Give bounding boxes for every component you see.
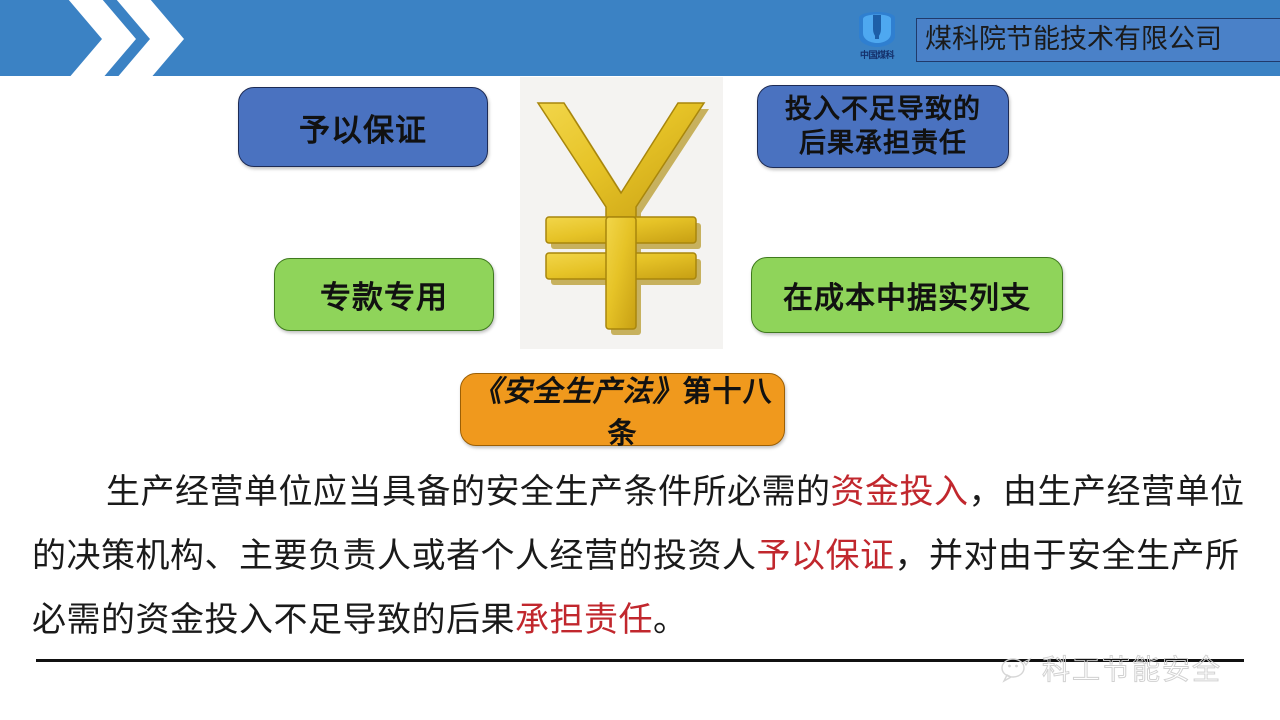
label-box-consequence-line1: 投入不足导致的 — [785, 93, 981, 127]
footer-watermark: 科工节能安全 — [1000, 650, 1258, 690]
label-box-cost-listing-text: 在成本中据实列支 — [783, 273, 1031, 317]
body-highlight-funding: 资金投入 — [831, 472, 969, 512]
slide-root: 中国煤科 煤科院节能技术有限公司 — [0, 0, 1280, 720]
label-box-guarantee-text: 予以保证 — [299, 105, 427, 150]
company-name: 煤科院节能技术有限公司 — [925, 25, 1222, 55]
law-article-paragraph-text: 生产经营单位应当具备的安全生产条件所必需的资金投入，由生产经营单位的决策机构、主… — [32, 460, 1248, 652]
label-box-guarantee[interactable]: 予以保证 — [238, 87, 488, 167]
body-highlight-responsibility: 承担责任 — [515, 600, 653, 640]
body-highlight-guarantee: 予以保证 — [757, 536, 895, 576]
label-box-cost-listing[interactable]: 在成本中据实列支 — [751, 257, 1063, 333]
body-segment-1: 生产经营单位应当具备的安全生产条件所必需的 — [106, 472, 831, 512]
law-article-paragraph: 生产经营单位应当具备的安全生产条件所必需的资金投入，由生产经营单位的决策机构、主… — [32, 460, 1248, 652]
logo-caption: 中国煤科 — [846, 51, 908, 62]
label-box-dedicated-funds[interactable]: 专款专用 — [274, 258, 494, 331]
company-logo: 中国煤科 — [846, 6, 908, 72]
law-title: 《安全生产法》 — [472, 374, 682, 408]
china-coal-science-logo-icon — [853, 6, 901, 50]
label-box-consequence[interactable]: 投入不足导致的 后果承担责任 — [757, 85, 1009, 168]
wechat-chat-bubble-icon — [1000, 656, 1034, 684]
body-segment-4: 。 — [653, 600, 688, 640]
footer-watermark-text: 科工节能安全 — [1042, 655, 1222, 685]
label-box-consequence-line2: 后果承担责任 — [785, 127, 981, 161]
header-banner: 中国煤科 煤科院节能技术有限公司 — [0, 0, 1280, 76]
label-box-dedicated-funds-text: 专款专用 — [320, 272, 448, 317]
chevron-right-icon-secondary — [104, 0, 200, 76]
label-box-law-reference[interactable]: 《安全生产法》第十八条 — [460, 373, 785, 446]
yen-symbol-image — [520, 77, 723, 349]
company-name-box: 煤科院节能技术有限公司 — [916, 18, 1280, 62]
